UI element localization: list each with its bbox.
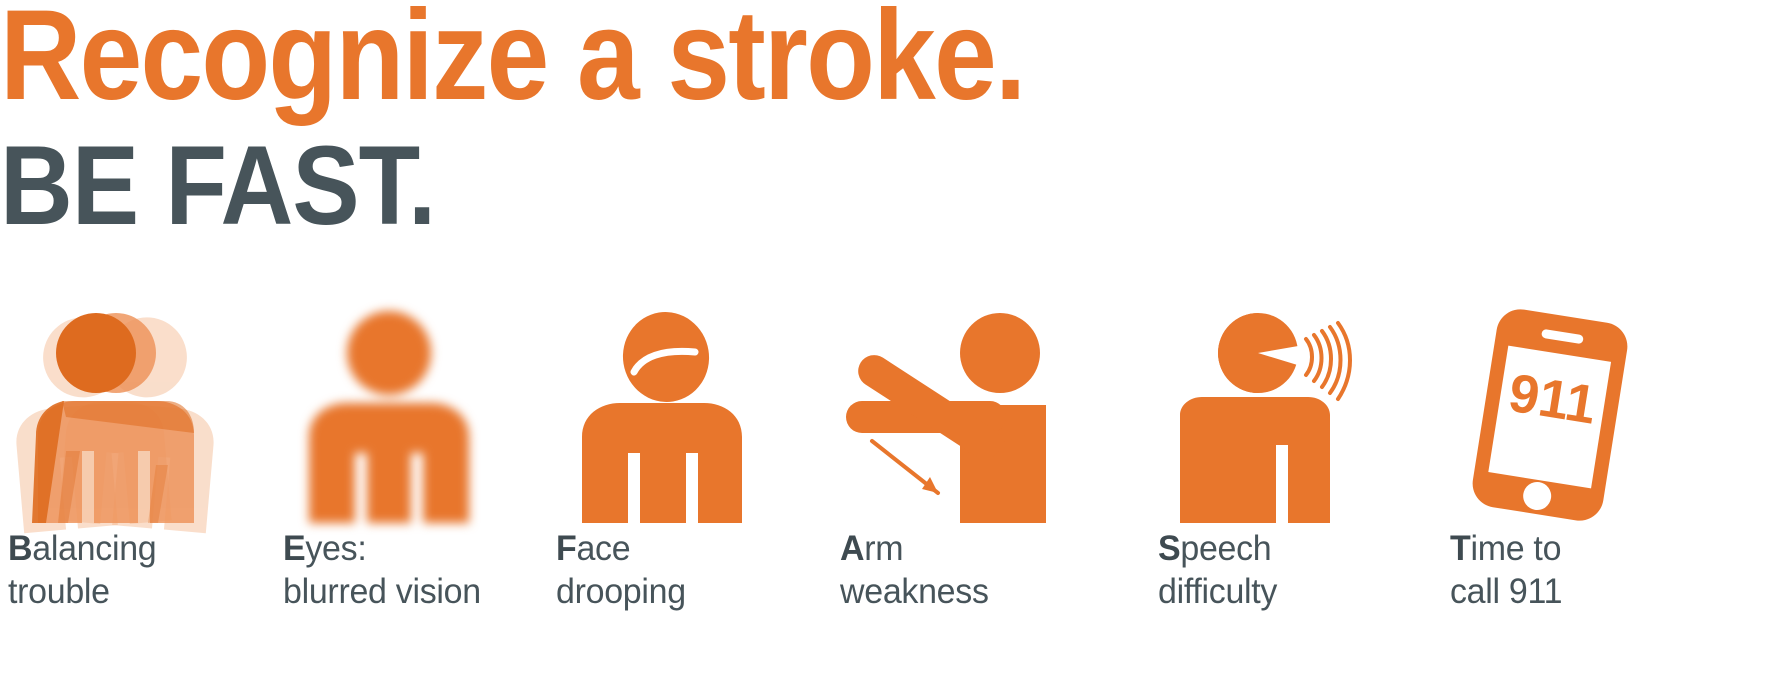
caption-line-2: drooping [556,570,686,613]
symptom-row: Balancing trouble Eyes: blurred vision [0,305,1778,697]
caption-rest: ime to [1470,529,1561,568]
blurred-person-icon [283,305,495,523]
symptom-item-face: Face drooping [548,305,798,697]
symptom-item-balancing: Balancing trouble [0,305,230,697]
caption-initial-letter: T [1450,529,1470,568]
dizzy-person-icon [6,305,222,523]
caption-initial-letter: E [283,529,305,568]
caption-initial-letter: A [840,529,864,568]
caption-rest: peech [1180,529,1271,568]
symptom-item-eyes: Eyes: blurred vision [275,305,525,697]
headline-line-2: BE FAST. [0,134,1260,238]
drooping-face-icon [556,305,768,523]
headline-line-1: Recognize a stroke. [0,0,1232,116]
caption-initial-letter: F [556,529,576,568]
symptom-caption-speech: Speech difficulty [1158,527,1277,613]
caption-line-2: difficulty [1158,570,1277,613]
symptom-item-arm: Arm weakness [832,305,1082,697]
caption-initial-letter: B [8,529,32,568]
symptom-caption-eyes: Eyes: blurred vision [283,527,481,613]
symptom-caption-face: Face drooping [556,527,686,613]
caption-line-2: blurred vision [283,570,481,613]
caption-line-2: weakness [840,570,989,613]
be-fast-stroke-poster: Recognize a stroke. BE FAST. [0,0,1778,697]
symptom-caption-arm: Arm weakness [840,527,989,613]
drooping-arm-icon [832,305,1072,523]
symptom-caption-balancing: Balancing trouble [8,527,156,613]
symptom-item-speech: Speech difficulty [1148,305,1398,697]
caption-rest: yes: [305,529,366,568]
caption-rest: ace [576,529,630,568]
symptom-item-time: 911 Time to call 911 [1440,305,1760,697]
phone-911-icon: 911 [1450,305,1650,523]
caption-line-2: trouble [8,570,156,613]
symptom-caption-time: Time to call 911 [1450,527,1562,613]
caption-line-2: call 911 [1450,570,1562,613]
speaking-head-icon [1158,305,1378,523]
caption-rest: alancing [32,529,156,568]
caption-rest: rm [864,529,903,568]
caption-initial-letter: S [1158,529,1180,568]
headline-block: Recognize a stroke. BE FAST. [0,0,1400,238]
